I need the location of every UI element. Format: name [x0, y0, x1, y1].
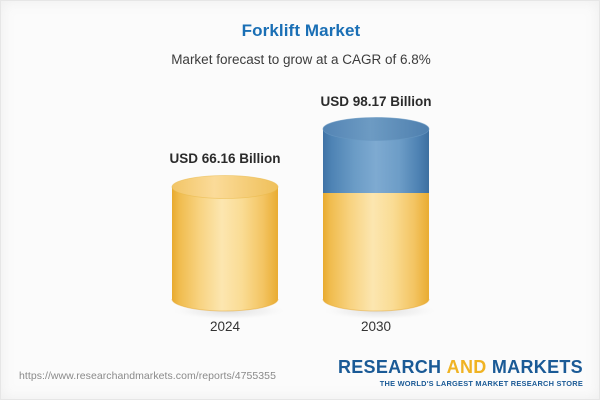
cylinder-2024 — [167, 175, 283, 321]
bar-group-2030: USD 98.17 Billion — [276, 1, 476, 346]
cylinder-2030 — [318, 117, 434, 321]
bar-category-label-2030: 2030 — [276, 319, 476, 334]
cylinder-base-segment-2030 — [323, 193, 429, 311]
logo-wordmark: RESEARCH AND MARKETS — [338, 358, 583, 376]
logo-word-markets: MARKETS — [492, 357, 583, 377]
research-and-markets-logo[interactable]: RESEARCH AND MARKETS THE WORLD'S LARGEST… — [338, 358, 583, 388]
logo-tagline: THE WORLD'S LARGEST MARKET RESEARCH STOR… — [338, 379, 583, 388]
logo-word-research: RESEARCH — [338, 357, 441, 377]
source-url[interactable]: https://www.researchandmarkets.com/repor… — [19, 370, 276, 382]
cylinder-top-cap-2030 — [323, 118, 429, 141]
bar-value-label-2030: USD 98.17 Billion — [276, 94, 476, 109]
cylinder-body-2024 — [172, 187, 278, 311]
plot-area: USD 66.16 Billion — [1, 1, 600, 346]
logo-word-and: AND — [447, 357, 487, 377]
cylinder-top-cap-2024 — [172, 176, 278, 199]
chart-canvas: Forklift Market Market forecast to grow … — [0, 0, 600, 400]
